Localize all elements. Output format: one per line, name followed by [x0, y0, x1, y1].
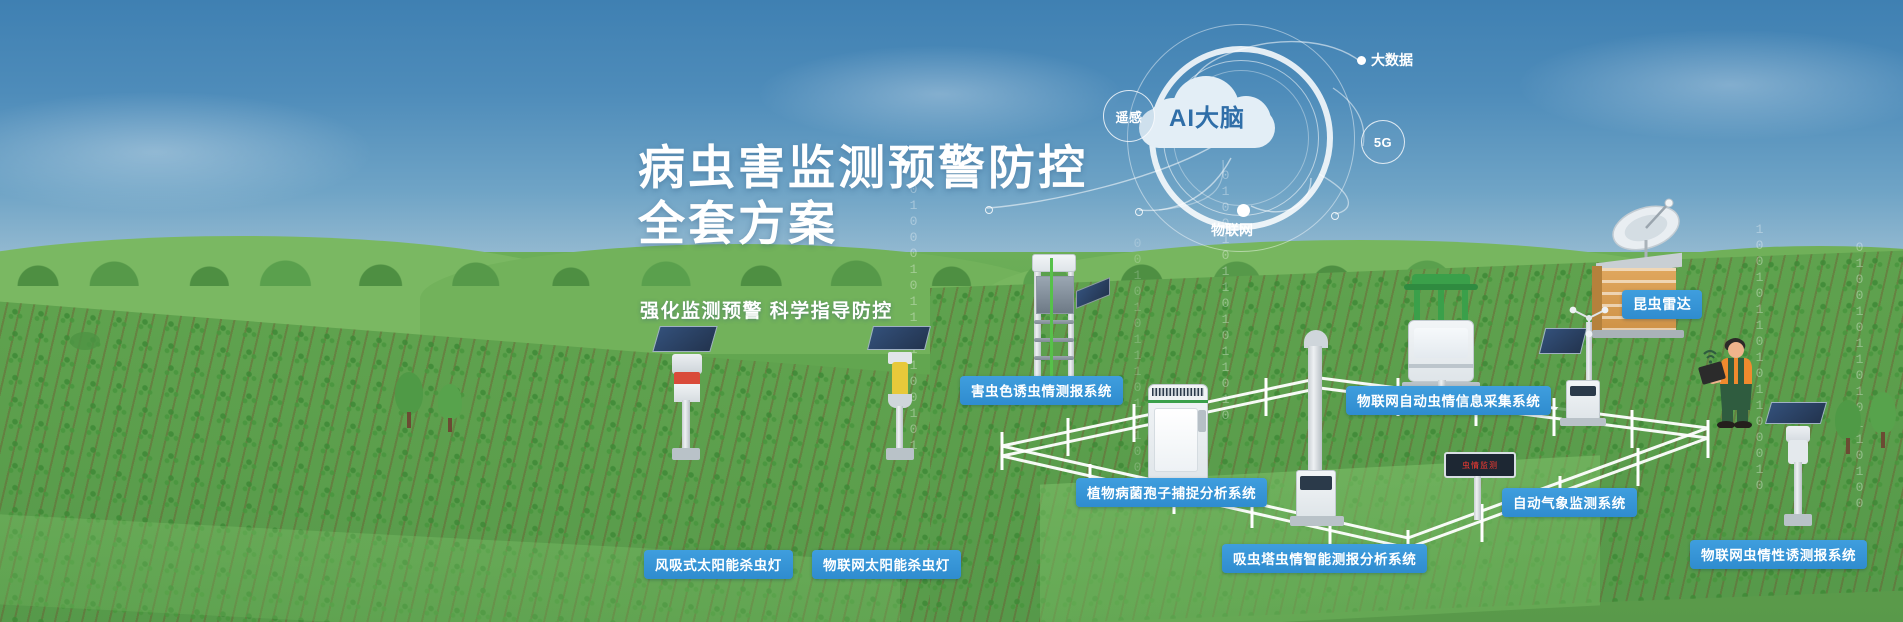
equipment-iot-pheromone[interactable]: [1760, 402, 1840, 528]
hub-node-label: 遥感: [1115, 107, 1142, 126]
label-insect-radar[interactable]: 昆虫雷达: [1622, 290, 1702, 319]
hub-node-dot-big-data: [1357, 56, 1366, 65]
hub-node-dot-iot: [1237, 204, 1250, 217]
headline-line-2: 全套方案: [638, 196, 1088, 252]
tree: [392, 372, 426, 428]
shrub: [70, 332, 100, 350]
equipment-iot-solar-lamp[interactable]: [866, 326, 934, 460]
label-iot-pest-collection[interactable]: 物联网自动虫情信息采集系统: [1346, 386, 1551, 415]
equipment-suction-tower[interactable]: [1288, 330, 1346, 530]
led-board-pole: [1474, 476, 1481, 520]
hub-node-label: 5G: [1374, 135, 1392, 150]
cloud-icon: AI大脑: [1139, 74, 1275, 148]
equipment-weather-station[interactable]: [1540, 322, 1620, 442]
label-spore-capture[interactable]: 植物病菌孢子捕捉分析系统: [1076, 478, 1267, 507]
headline-block: 病虫害监测预警防控 全套方案: [638, 140, 1088, 252]
label-wind-suction-lamp[interactable]: 风吸式太阳能杀虫灯: [644, 550, 793, 579]
hub-node-label-big-data: 大数据: [1371, 50, 1413, 70]
hub-endpoint-dot: [1331, 212, 1339, 220]
headline-line-1: 病虫害监测预警防控: [638, 140, 1088, 196]
tree: [436, 384, 464, 432]
equipment-iot-pest-collection[interactable]: [1400, 274, 1486, 404]
equipment-wind-suction-lamp[interactable]: [650, 326, 720, 460]
hub-endpoint-dot: [1135, 208, 1143, 216]
tree: [1868, 392, 1898, 448]
worker-illustration: [1698, 328, 1766, 428]
hub-node-remote-sensing[interactable]: 遥感: [1103, 90, 1155, 142]
equipment-color-lure-forecast[interactable]: [1008, 258, 1094, 386]
ai-brain-hub: AI大脑 遥感 5G 大数据 物联网: [1105, 28, 1435, 248]
binary-stream: 00101011101010010: [1130, 236, 1145, 346]
label-iot-solar-lamp[interactable]: 物联网太阳能杀虫灯: [812, 550, 961, 579]
label-suction-tower[interactable]: 吸虫塔虫情智能测报分析系统: [1222, 544, 1427, 573]
headline-subtitle: 强化监测预警 科学指导防控: [640, 296, 893, 323]
binary-stream: 01001011010110100: [1852, 240, 1867, 420]
field-worker-figure: [1698, 328, 1766, 428]
ai-core-label: AI大脑: [1139, 98, 1275, 133]
label-color-lure-forecast[interactable]: 害虫色诱虫情测报系统: [960, 376, 1123, 405]
label-iot-pheromone[interactable]: 物联网虫情性诱测报系统: [1690, 540, 1867, 569]
hub-node-5g[interactable]: 5G: [1361, 120, 1405, 164]
hub-node-label-iot: 物联网: [1211, 220, 1253, 240]
poster-canvas: 01000101101100101 0100101101011010 10010…: [0, 0, 1903, 622]
label-weather-station[interactable]: 自动气象监测系统: [1502, 488, 1637, 517]
led-display-board[interactable]: 虫情监测: [1444, 452, 1516, 478]
anemometer-icon: [1570, 304, 1620, 338]
